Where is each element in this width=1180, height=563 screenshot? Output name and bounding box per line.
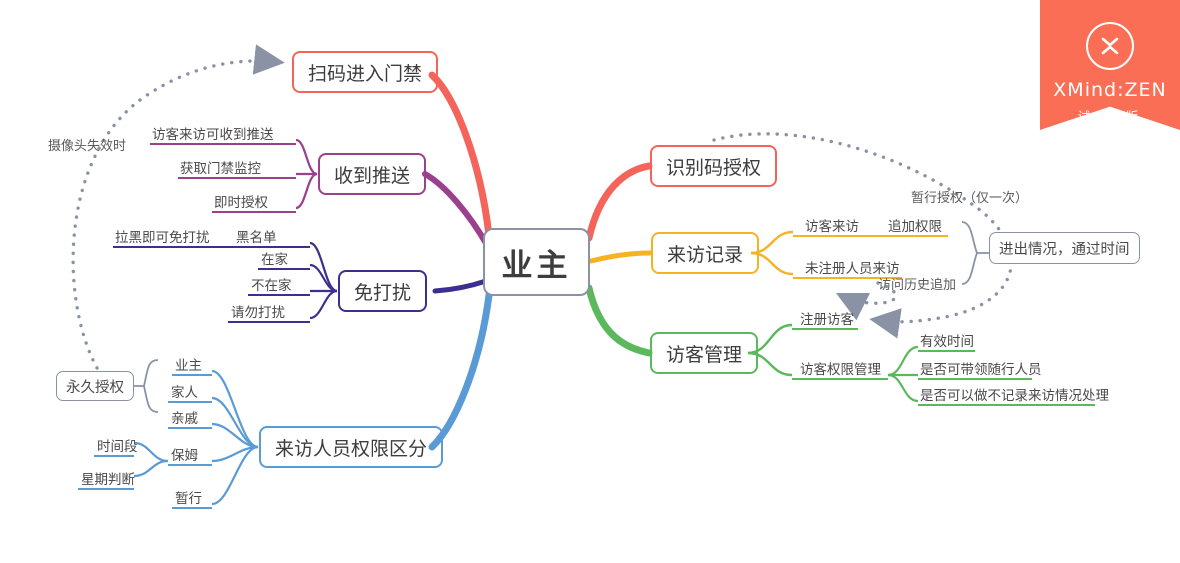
leaf-nanny-weekday[interactable]: 星期判断 [81,472,135,488]
rel-camera-label-text: 摄像头失效时 [48,138,126,153]
leaf-record-visit-label: 访客来访 [805,219,859,235]
topic-push-label: 收到推送 [334,161,410,188]
leaf-visitor-permmgmt-label: 访客权限管理 [800,362,881,378]
summary-permanent-auth[interactable]: 永久授权 [56,371,134,401]
central-topic[interactable]: 业主 [483,228,590,296]
leaf-visitor-permmgmt[interactable]: 访客权限管理 [800,362,881,378]
rel-history-label[interactable]: 访问历史追加 [878,274,956,293]
leaf-vp-norecord[interactable]: 是否可以做不记录来访情况处理 [920,388,1109,404]
trunk-scan [432,75,489,235]
trunk-record [591,253,650,261]
leaf-perm-family-label: 家人 [171,385,198,401]
summary-permanent-auth-label: 永久授权 [66,376,124,397]
conn-vp-3 [888,375,918,401]
topic-dnd[interactable]: 免打扰 [338,270,427,312]
leaf-push-1[interactable]: 访客来访可收到推送 [152,127,274,143]
leaf-visitor-register[interactable]: 注册访客 [800,312,854,328]
rel-temp-label[interactable]: 暂行授权（仅一次） [911,187,1028,206]
topic-push[interactable]: 收到推送 [318,153,426,195]
leaf-dnd-home[interactable]: 在家 [261,252,288,268]
leaf-nanny-timeslot[interactable]: 时间段 [97,439,138,455]
trunk-dnd [435,281,486,291]
conn-baomu-2 [134,461,168,476]
topic-dnd-label: 免打扰 [354,278,411,305]
topic-scan[interactable]: 扫码进入门禁 [292,51,438,93]
watermark-subtitle: 试 用 版 [1078,106,1142,125]
leaf-nanny-timeslot-label: 时间段 [97,439,138,455]
leaf-vp-escort[interactable]: 是否可带领随行人员 [920,362,1042,378]
leaf-record-visit[interactable]: 访客来访 [805,219,859,235]
trunk-visitor [589,288,649,353]
conn-dnd-4 [310,291,337,318]
conn-perm-4 [212,447,258,461]
leaf-vp-escort-label: 是否可带领随行人员 [920,362,1042,378]
topic-visitor[interactable]: 访客管理 [650,332,758,374]
leaf-push-3[interactable]: 即时授权 [214,195,268,211]
conn-push-3 [296,174,317,208]
leaf-perm-family[interactable]: 家人 [171,385,198,401]
conn-dnd-1 [310,243,337,291]
topic-idcode[interactable]: 识别码授权 [650,145,777,187]
leaf-dnd-away-label: 不在家 [251,278,292,294]
topic-scan-label: 扫码进入门禁 [308,59,422,86]
leaf-perm-relative[interactable]: 亲戚 [171,411,198,427]
leaf-perm-temp[interactable]: 暂行 [175,491,202,507]
topic-record[interactable]: 来访记录 [651,232,759,274]
leaf-push-3-label: 即时授权 [214,195,268,211]
leaf-dnd-blacklist-label: 黑名单 [236,230,277,246]
topic-permission[interactable]: 来访人员权限区分 [259,426,443,468]
conn-vp-1 [888,347,918,375]
conn-perm-2 [212,398,258,447]
conn-dnd-2 [310,265,337,291]
leaf-push-2[interactable]: 获取门禁监控 [180,161,261,177]
leaf-vp-validtime-label: 有效时间 [920,334,974,350]
leaf-record-addperm-label: 追加权限 [888,219,942,235]
leaf-perm-owner-label: 业主 [175,358,202,374]
conn-perm-3 [212,424,258,447]
rel-temp-label-text: 暂行授权（仅一次） [911,190,1028,205]
leaf-perm-nanny[interactable]: 保姆 [171,448,198,464]
trunk-perm [432,295,489,447]
brace-record-summary [962,222,977,284]
conn-baomu-1 [134,443,168,461]
leaf-perm-relative-label: 亲戚 [171,411,198,427]
leaf-record-addperm[interactable]: 追加权限 [888,219,942,235]
rel-camera-label[interactable]: 摄像头失效时 [48,135,126,154]
conn-perm-5 [212,447,258,504]
trunk-push [425,174,487,245]
mindmap-canvas: 业主 扫码进入门禁 收到推送 免打扰 来访人员权限区分 识别码授权 来访记录 访… [0,0,1180,563]
leaf-dnd-blacklist[interactable]: 黑名单 [236,230,277,246]
connector-layer [0,0,1180,563]
xmind-watermark: XMind:ZEN 试 用 版 [1040,0,1180,130]
leaf-perm-owner[interactable]: 业主 [175,358,202,374]
topic-record-label: 来访记录 [667,240,743,267]
summary-entry-exit-label: 进出情况，通过时间 [999,238,1130,259]
conn-perm-1 [212,371,258,447]
conn-push-1 [296,140,317,174]
leaf-vp-validtime[interactable]: 有效时间 [920,334,974,350]
leaf-dnd-donotdisturb[interactable]: 请勿打扰 [231,305,285,321]
rel-history-label-text: 访问历史追加 [878,277,956,292]
leaf-visitor-register-label: 注册访客 [800,312,854,328]
leaf-push-1-label: 访客来访可收到推送 [152,127,274,143]
leaf-perm-nanny-label: 保姆 [171,448,198,464]
leaf-dnd-home-label: 在家 [261,252,288,268]
leaf-dnd-donotdisturb-label: 请勿打扰 [231,305,285,321]
leaf-dnd-blacklist-sub-label: 拉黑即可免打扰 [115,230,210,246]
leaf-nanny-weekday-label: 星期判断 [81,472,135,488]
rel-camera-line [73,61,278,368]
leaf-push-2-label: 获取门禁监控 [180,161,261,177]
topic-visitor-label: 访客管理 [666,340,742,367]
watermark-title: XMind:ZEN [1053,79,1166,101]
brace-perm-summary [144,360,158,412]
summary-entry-exit[interactable]: 进出情况，通过时间 [989,232,1140,264]
leaf-dnd-away[interactable]: 不在家 [251,278,292,294]
topic-idcode-label: 识别码授权 [666,153,761,180]
leaf-perm-temp-label: 暂行 [175,491,202,507]
central-topic-label: 业主 [502,240,572,285]
leaf-vp-norecord-label: 是否可以做不记录来访情况处理 [920,388,1109,404]
topic-permission-label: 来访人员权限区分 [275,434,427,461]
x-mark-icon [1086,22,1134,70]
leaf-dnd-blacklist-sub[interactable]: 拉黑即可免打扰 [115,230,210,246]
trunk-idcode [589,166,649,238]
